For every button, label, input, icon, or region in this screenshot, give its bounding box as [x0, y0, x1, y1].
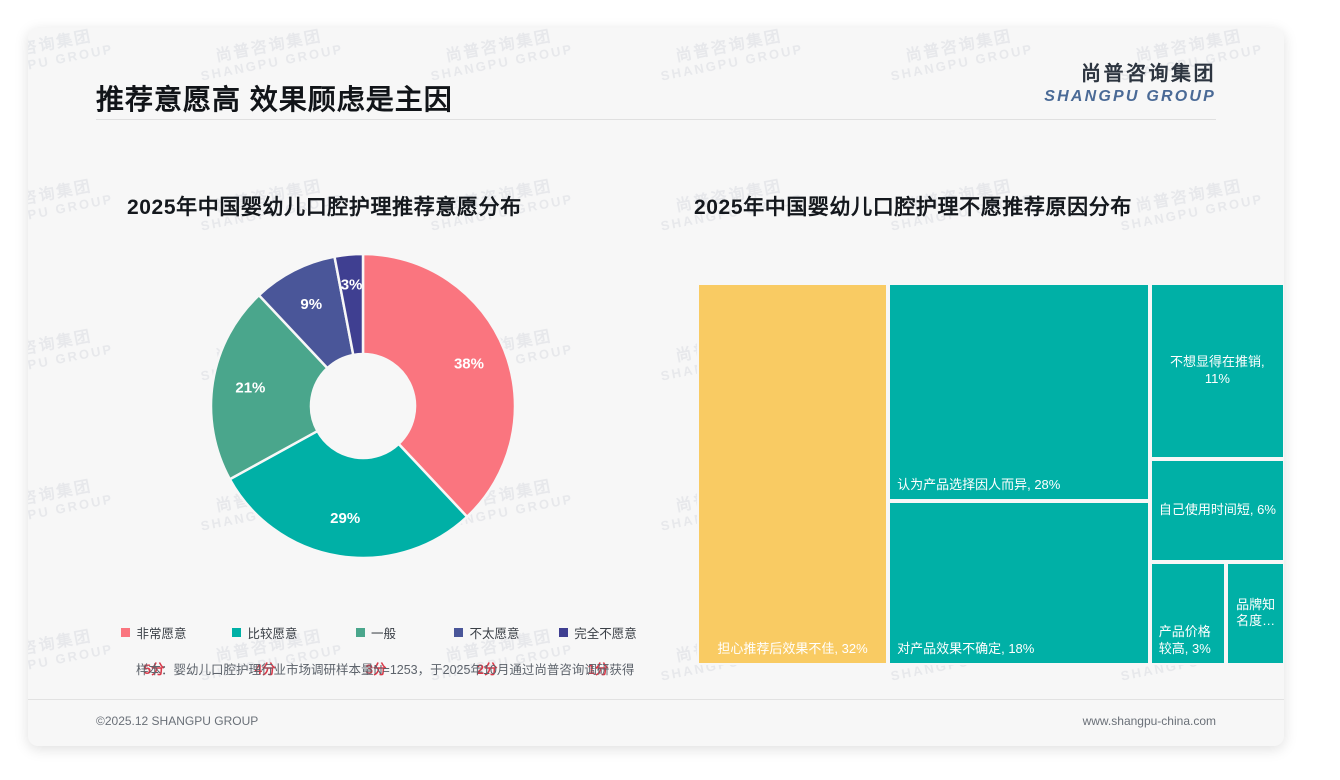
- logo-chinese-text: 尚普咨询集团: [1044, 62, 1216, 87]
- treemap-cell-对产品效果不确定[interactable]: 对产品效果不确定, 18%: [888, 501, 1150, 665]
- treemap-cell-label: 不想显得在推销, 11%: [1159, 354, 1276, 388]
- copyright-text: ©2025.12 SHANGPU GROUP: [96, 714, 258, 728]
- treemap-cell-label: 担心推荐后效果不佳, 32%: [706, 641, 879, 658]
- legend-label: 非常愿意: [136, 623, 186, 642]
- treemap-cell-自己使用时间短[interactable]: 自己使用时间短, 6%: [1150, 459, 1284, 562]
- brand-logo: 尚普咨询集团 SHANGPU GROUP: [1044, 62, 1216, 106]
- treemap-cell-label: 认为产品选择因人而异, 28%: [897, 477, 1141, 494]
- legend-label: 完全不愿意: [574, 623, 637, 642]
- treemap-chart-panel: 2025年中国婴幼儿口腔护理不愿推荐原因分布 担心推荐后效果不佳, 32%认为产…: [678, 168, 1278, 698]
- legend-row: 比较愿意: [232, 623, 297, 642]
- slide-footer: ©2025.12 SHANGPU GROUP www.shangpu-china…: [28, 700, 1284, 746]
- treemap-cell-label: 产品价格较高, 3%: [1159, 624, 1217, 658]
- legend-swatch-icon: [454, 628, 463, 637]
- legend-swatch-icon: [559, 628, 568, 637]
- treemap-cell-产品价格较高[interactable]: 产品价格较高, 3%: [1150, 562, 1226, 665]
- website-link[interactable]: www.shangpu-china.com: [1083, 714, 1216, 728]
- treemap-cell-不想显得在推销[interactable]: 不想显得在推销, 11%: [1150, 283, 1284, 459]
- legend-swatch-icon: [356, 628, 365, 637]
- donut-slice-label: 21%: [235, 380, 265, 397]
- slide-card: 尚普咨询集团SHANGPU GROUP尚普咨询集团SHANGPU GROUP尚普…: [28, 28, 1284, 746]
- donut-slice-label: 38%: [454, 356, 484, 373]
- donut-chart-panel: 2025年中国婴幼儿口腔护理推荐意愿分布 38%29%21%9%3% 非常愿意5…: [96, 168, 656, 698]
- treemap-chart: 担心推荐后效果不佳, 32%认为产品选择因人而异, 28%对产品效果不确定, 1…: [697, 283, 1284, 665]
- legend-swatch-icon: [232, 628, 241, 637]
- donut-slice-label: 3%: [341, 276, 363, 293]
- donut-chart-title: 2025年中国婴幼儿口腔护理推荐意愿分布: [127, 191, 522, 221]
- legend-label: 不太愿意: [469, 623, 519, 642]
- donut-slice-label: 29%: [330, 510, 360, 527]
- donut-slice-label: 9%: [300, 296, 322, 313]
- legend-label: 比较愿意: [247, 623, 297, 642]
- legend-row: 不太愿意: [454, 623, 519, 642]
- treemap-cell-label: 品牌知名度…: [1235, 597, 1276, 631]
- legend-swatch-icon: [121, 628, 130, 637]
- page-title: 推荐意愿高 效果顾虑是主因: [96, 78, 453, 118]
- treemap-cell-label: 自己使用时间短, 6%: [1159, 502, 1276, 519]
- treemap-cell-认为产品选择因人而异[interactable]: 认为产品选择因人而异, 28%: [888, 283, 1150, 501]
- legend-row: 一般: [356, 623, 396, 642]
- legend-label: 一般: [371, 623, 396, 642]
- treemap-cell-担心推荐后效果不佳[interactable]: 担心推荐后效果不佳, 32%: [697, 283, 888, 665]
- treemap-cell-label: 对产品效果不确定, 18%: [897, 641, 1141, 658]
- legend-row: 非常愿意: [121, 623, 186, 642]
- donut-chart: 38%29%21%9%3%: [203, 246, 523, 566]
- donut-svg: 38%29%21%9%3%: [203, 246, 523, 566]
- treemap-chart-title: 2025年中国婴幼儿口腔护理不愿推荐原因分布: [694, 191, 1132, 221]
- logo-english-text: SHANGPU GROUP: [1044, 87, 1216, 106]
- legend-row: 完全不愿意: [559, 623, 637, 642]
- sample-footnote: 样本：婴幼儿口腔护理行业市场调研样本量N=1253，于2025年10月通过尚普咨…: [136, 659, 634, 678]
- slide-header: 推荐意愿高 效果顾虑是主因 尚普咨询集团 SHANGPU GROUP: [28, 28, 1284, 120]
- header-divider: [96, 119, 1216, 120]
- treemap-cell-品牌知名度…[interactable]: 品牌知名度…: [1226, 562, 1284, 665]
